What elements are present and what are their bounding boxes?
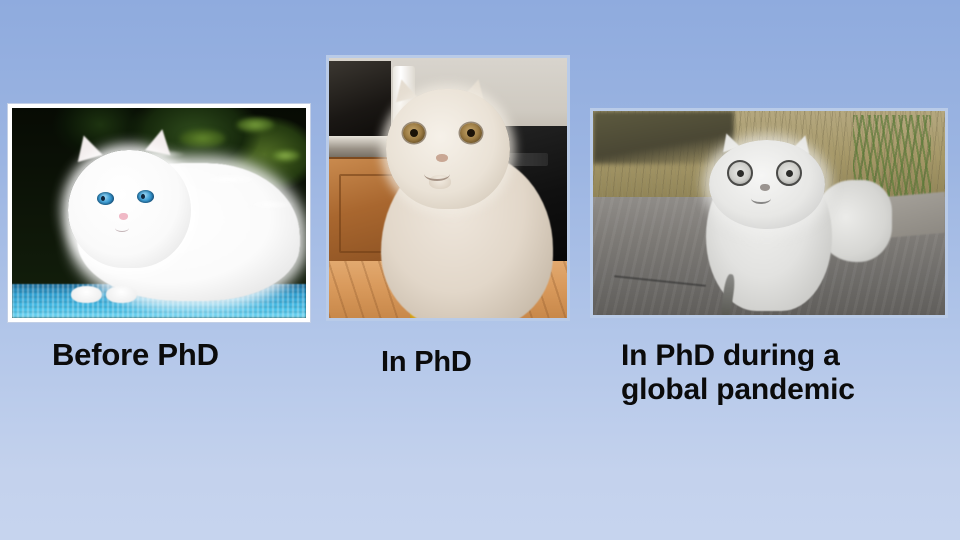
dark-appliance	[329, 61, 391, 139]
photo-in-phd-scene	[329, 58, 567, 318]
kitten-ear-right	[145, 127, 175, 156]
cat-mouth	[751, 193, 771, 204]
kitten-eye-right	[137, 190, 154, 203]
cat-head	[386, 89, 510, 209]
caption-line-1: In PhD during a	[621, 339, 921, 373]
photo-in-phd-pandemic[interactable]	[590, 108, 948, 318]
photo-before-phd[interactable]	[8, 104, 310, 322]
photo-before-phd-scene	[12, 108, 306, 318]
caption-in-phd-pandemic: In PhD during a global pandemic	[621, 339, 921, 407]
slide-canvas: Before PhD In PhD	[0, 0, 960, 540]
photo-in-phd-pandemic-scene	[593, 111, 945, 315]
caption-line-2: global pandemic	[621, 373, 921, 407]
caption-before-phd: Before PhD	[52, 337, 219, 372]
cat-eye-right	[460, 123, 482, 143]
caption-in-phd: In PhD	[381, 346, 472, 379]
shadowed-grass	[593, 111, 734, 164]
cat-eye-right	[776, 160, 802, 186]
kitten-mouth	[115, 224, 129, 232]
photo-in-phd[interactable]	[326, 55, 570, 321]
kitten-head	[68, 150, 191, 268]
kitten-paw-left	[71, 286, 102, 303]
kitten-paw-right	[106, 286, 137, 303]
cat-eye-left	[403, 123, 425, 143]
cat-eye-left	[727, 160, 753, 186]
